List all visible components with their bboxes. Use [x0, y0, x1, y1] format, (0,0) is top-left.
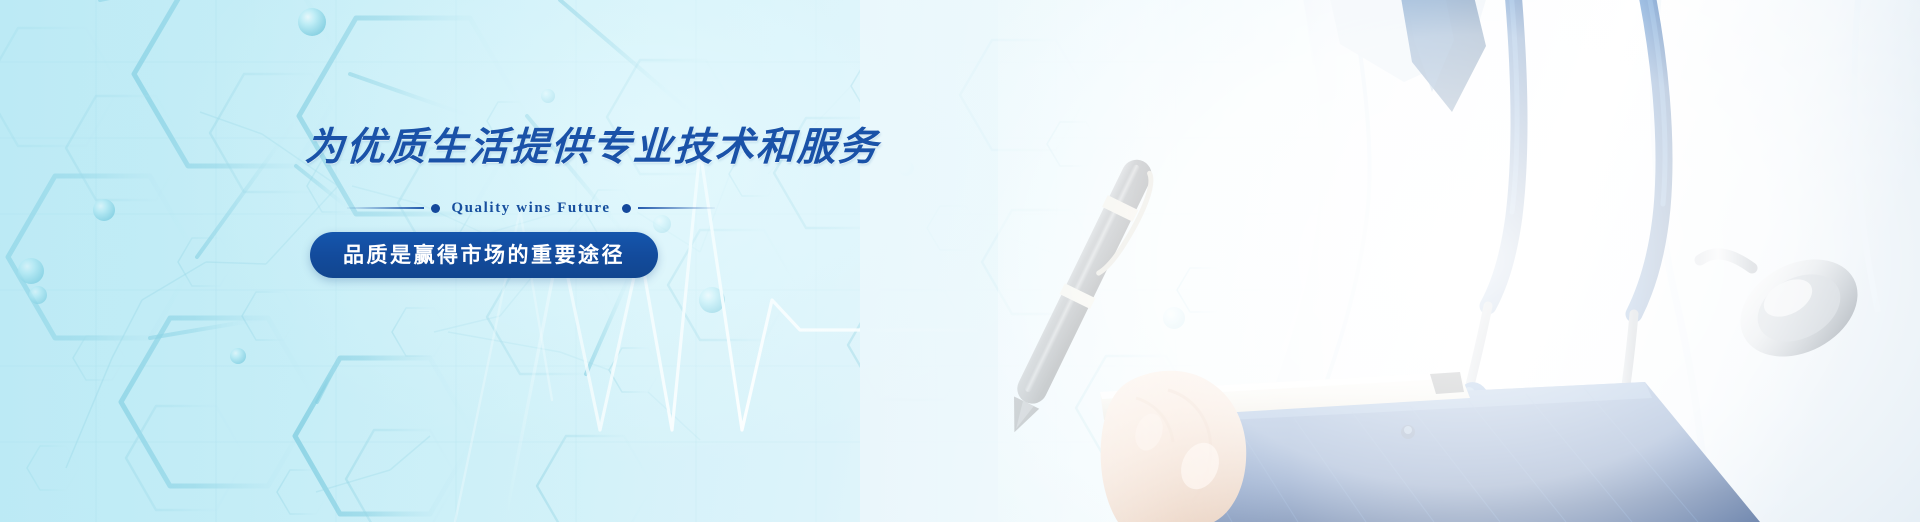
- banner-text-block: 为优质生活提供专业技术和服务 Quality wins Future 品质是赢得…: [305, 128, 945, 278]
- tagline-pill-button[interactable]: 品质是赢得市场的重要途径: [310, 232, 658, 278]
- divider-rule-right: [638, 207, 715, 209]
- tagline-divider: Quality wins Future: [347, 200, 715, 216]
- tagline-pill-label: 品质是赢得市场的重要途径: [343, 245, 625, 266]
- divider-dot-left: [431, 204, 440, 213]
- english-tagline: Quality wins Future: [447, 200, 614, 217]
- hero-banner: 为优质生活提供专业技术和服务 Quality wins Future 品质是赢得…: [0, 0, 1920, 522]
- divider-rule-left: [347, 207, 424, 209]
- banner-headline: 为优质生活提供专业技术和服务: [304, 128, 946, 167]
- divider-dot-right: [622, 204, 631, 213]
